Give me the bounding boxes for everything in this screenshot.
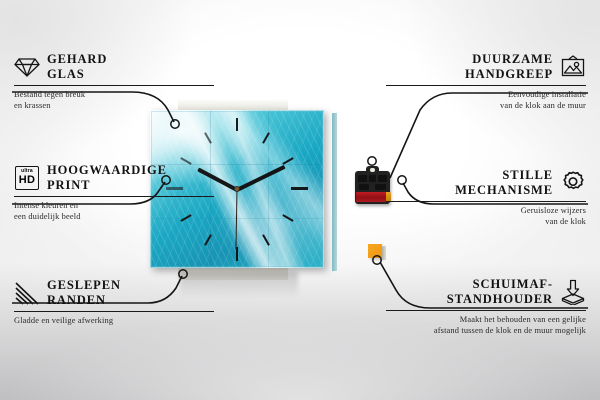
picture-frame-icon [560,54,586,80]
feature-schuimaf-standhouder: SCHUIMAF- STANDHOUDER Maakt het behouden… [386,277,586,336]
feature-title: STILLE MECHANISME [455,168,553,198]
feature-desc-line1: Geruisloze wijzers [386,206,586,217]
feature-title: SCHUIMAF- STANDHOUDER [447,277,553,307]
feature-desc-line1: Intense kleuren en [14,201,214,212]
clock-mechanism [355,171,390,204]
clock-center-cap [234,186,240,192]
feature-divider [386,310,586,311]
feature-gehard-glas: GEHARD GLAS Bestand tegen breuk en krass… [14,52,214,111]
feature-stille-mechanisme: STILLE MECHANISME Geruisloze wijzers van… [386,168,586,227]
clock-tick-12 [236,118,238,131]
feature-header: GESLEPEN RANDEN [14,278,214,308]
feature-desc-line2: van de klok aan de muur [386,101,586,112]
feature-hoogwaardige-print: ultra HD HOOGWAARDIGE PRINT Intense kleu… [14,163,214,222]
feature-title: GESLEPEN RANDEN [47,278,121,308]
feature-duurzame-handgreep: DUURZAME HANDGREEP Eenvoudige installati… [386,52,586,111]
gear-icon [560,170,586,196]
mechanism-slot-b [369,175,376,182]
feature-desc-line2: van de klok [386,217,586,228]
foam-spacer-side [382,246,386,260]
feature-header: GEHARD GLAS [14,52,214,82]
feature-title: GEHARD GLAS [47,52,107,82]
bevelled-edge-icon [14,280,40,306]
feature-desc-line1: Gladde en veilige afwerking [14,316,214,327]
feature-title: DUURZAME HANDGREEP [465,52,553,82]
feature-divider [14,85,214,86]
clock-tick-3 [291,187,308,190]
feature-desc-line1: Maakt het behouden van een gelijke [386,315,586,326]
clock-glass-edge [332,113,337,271]
foam-spacer-pad [368,244,382,258]
mechanism-battery [356,192,390,202]
feature-header: ultra HD HOOGWAARDIGE PRINT [14,163,214,193]
ultra-hd-icon: ultra HD [14,165,40,191]
mechanism-slot-e [375,184,386,190]
feature-divider [14,311,214,312]
feature-desc-line2: afstand tussen de klok en de muur mogeli… [386,326,586,337]
feature-header: SCHUIMAF- STANDHOUDER [386,277,586,307]
ultra-hd-icon-large-text: HD [16,175,38,186]
feature-geslepen-randen: GESLEPEN RANDEN Gladde en veilige afwerk… [14,278,214,327]
feature-desc-line2: een duidelijk beeld [14,212,214,223]
mechanism-hanger-hole [370,168,375,172]
feature-divider [14,196,214,197]
feature-divider [386,85,586,86]
feature-title: HOOGWAARDIGE PRINT [47,163,167,193]
feature-header: DUURZAME HANDGREEP [386,52,586,82]
mechanism-slot-d [359,184,369,190]
feature-desc-line1: Bestand tegen breuk [14,90,214,101]
feature-header: STILLE MECHANISME [386,168,586,198]
feature-desc-line1: Eenvoudige installatie [386,90,586,101]
feature-desc-line2: en krassen [14,101,214,112]
product-infographic: GEHARD GLAS Bestand tegen breuk en krass… [0,0,600,400]
feature-divider [386,201,586,202]
mechanism-slot-a [358,175,367,182]
spacer-arrow-icon [560,279,586,305]
diamond-icon [14,54,40,80]
